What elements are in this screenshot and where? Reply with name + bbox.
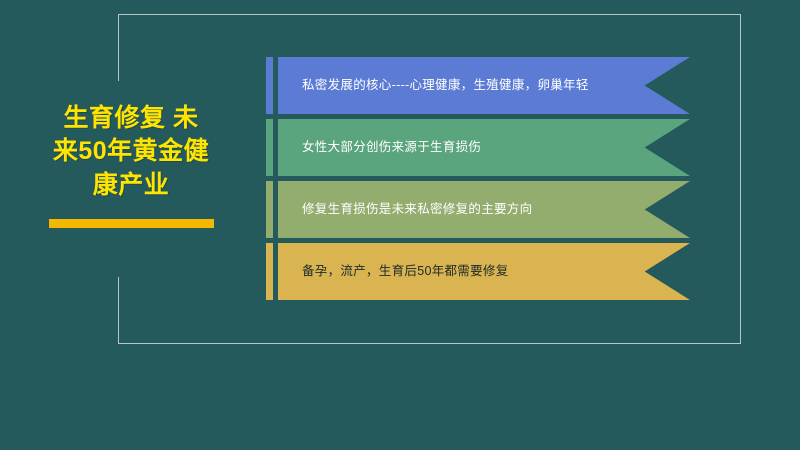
ribbon-accent-tab bbox=[266, 57, 273, 114]
frame-left-edge-lower bbox=[118, 277, 119, 344]
frame-top-edge bbox=[118, 14, 741, 15]
presentation-slide: 生育修复 未 来50年黄金健 康产业 私密发展的核心----心理健康，生殖健康，… bbox=[0, 0, 800, 450]
title-block: 生育修复 未 来50年黄金健 康产业 bbox=[20, 102, 242, 228]
ribbon-label: 修复生育损伤是未来私密修复的主要方向 bbox=[278, 201, 590, 217]
ribbon-label: 女性大部分创伤来源于生育损伤 bbox=[278, 139, 539, 155]
ribbon-label: 备孕，流产，生育后50年都需要修复 bbox=[278, 263, 567, 279]
frame-right-edge bbox=[740, 14, 741, 344]
ribbon-label: 私密发展的核心----心理健康，生殖健康，卵巢年轻 bbox=[278, 77, 647, 93]
ribbon-body: 备孕，流产，生育后50年都需要修复 bbox=[278, 243, 690, 300]
ribbon-body: 修复生育损伤是未来私密修复的主要方向 bbox=[278, 181, 690, 238]
ribbon-body: 私密发展的核心----心理健康，生殖健康，卵巢年轻 bbox=[278, 57, 690, 114]
frame-bottom-edge bbox=[118, 343, 741, 344]
ribbon-accent-tab bbox=[266, 181, 273, 238]
title-underline-rule bbox=[49, 219, 214, 228]
ribbon-accent-tab bbox=[266, 119, 273, 176]
ribbon-body: 女性大部分创伤来源于生育损伤 bbox=[278, 119, 690, 176]
frame-left-edge-upper bbox=[118, 14, 119, 81]
ribbon-accent-tab bbox=[266, 243, 273, 300]
slide-title: 生育修复 未 来50年黄金健 康产业 bbox=[20, 102, 242, 202]
